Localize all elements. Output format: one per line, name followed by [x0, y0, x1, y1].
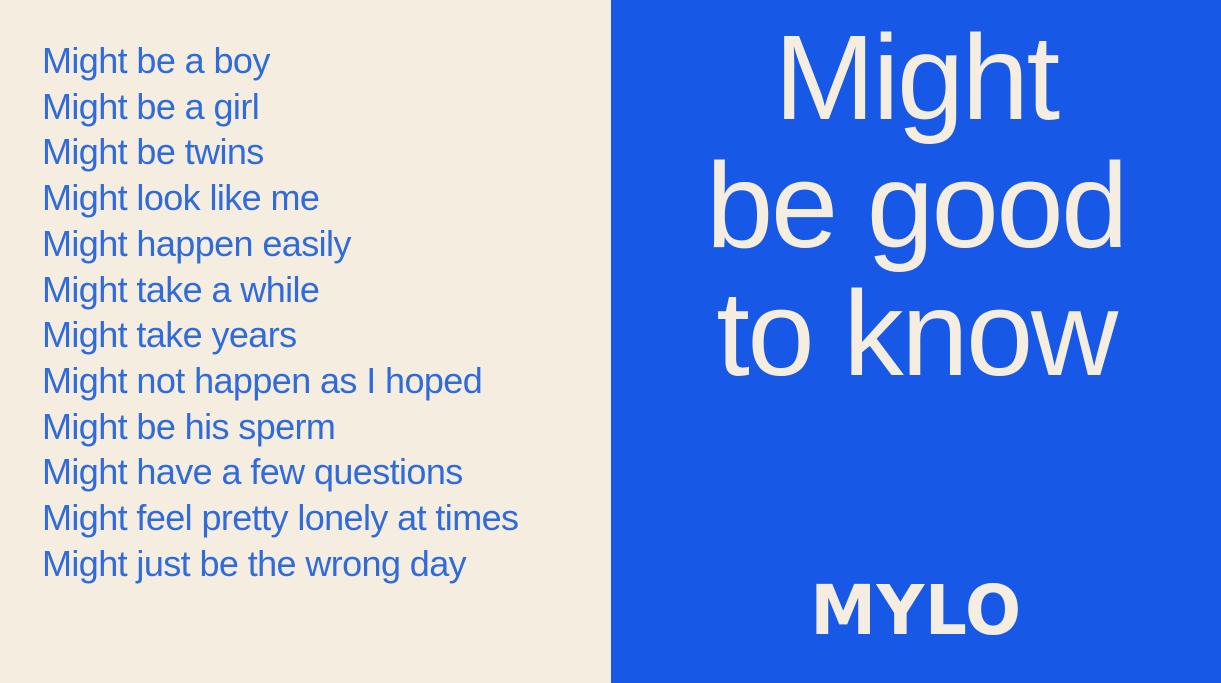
list-item: Might look like me — [42, 175, 518, 221]
list-item: Might take years — [42, 312, 518, 358]
headline-line: Might — [611, 13, 1221, 141]
list-item: Might have a few questions — [42, 449, 518, 495]
page-title: Might be good to know — [611, 13, 1221, 397]
poster: Might be a boy Might be a girl Might be … — [0, 0, 1221, 683]
list-item: Might be a boy — [42, 38, 518, 84]
list-item: Might be a girl — [42, 84, 518, 130]
list-item: Might not happen as I hoped — [42, 358, 518, 404]
list-item: Might just be the wrong day — [42, 541, 518, 587]
right-panel: Might be good to know MYLO — [611, 0, 1221, 683]
list-item: Might be twins — [42, 129, 518, 175]
list-item: Might happen easily — [42, 221, 518, 267]
list-item: Might take a while — [42, 267, 518, 313]
might-statements-list: Might be a boy Might be a girl Might be … — [42, 38, 518, 586]
list-item: Might feel pretty lonely at times — [42, 495, 518, 541]
list-item: Might be his sperm — [42, 404, 518, 450]
left-panel: Might be a boy Might be a girl Might be … — [0, 0, 611, 683]
headline-line: be good — [611, 141, 1221, 269]
headline-line: to know — [611, 269, 1221, 397]
mylo-logo: MYLO — [611, 577, 1221, 646]
